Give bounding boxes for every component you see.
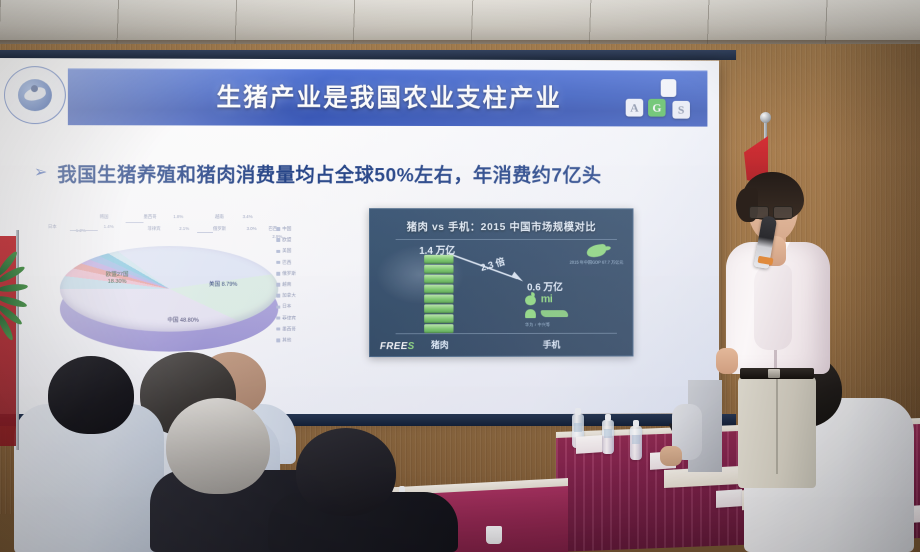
name-card: [576, 435, 602, 454]
cup: [486, 526, 502, 544]
flag-pole-knob-icon: [760, 112, 771, 123]
slide-title-band: 生猪产业是我国农业支柱产业 A G S: [68, 68, 708, 126]
frees-watermark: FREES: [380, 341, 415, 352]
android-logo-icon: [525, 309, 536, 318]
water-bottle: [602, 420, 614, 454]
rooster-icon: [586, 244, 607, 258]
panel-title: 猪肉 vs 手机：2015 中国市场规模对比: [370, 219, 632, 234]
phone-brand-logos: mi 华为 / 中兴等: [525, 292, 586, 328]
institute-emblem-logo: [2, 64, 68, 126]
screenshot-root: 生猪产业是我国农业支柱产业 A G S ➢ 我国生猪养殖和猪肉消费量均占全球50…: [0, 0, 920, 552]
mi-logo-icon: mi: [541, 293, 553, 305]
water-bottle: [630, 426, 642, 460]
money-stack-icon: [424, 255, 453, 334]
presenter-arm: [754, 264, 792, 350]
attendee-head-grey-hair: [166, 398, 270, 494]
pork-vs-phone-comparison-panel: 猪肉 vs 手机：2015 中国市场规模对比 1.4 万亿 2.3 倍 0.6 …: [369, 208, 633, 357]
pie-legend: 中国 欧盟 美国 巴西 俄罗斯 越南 加拿大 日本 菲律宾 墨西哥 其他: [276, 226, 339, 348]
ags-tile-top: [661, 79, 677, 97]
presenter-left-hand: [716, 348, 738, 374]
pie-label-us: 美国 8.79%: [209, 282, 237, 289]
world-pork-share-pie-chart: 日本 1.2% 韩国 1.4% 墨西哥 1.8% 菲律宾 2.1% 越南 3.4…: [20, 210, 347, 375]
attendee-partial-hand: [660, 446, 682, 466]
ags-logo: A G S: [626, 79, 694, 123]
apple-logo-icon: [525, 292, 536, 305]
attendee-head: [296, 428, 396, 516]
gdp-note-block: 2015 年中国GDP 67.7 万亿元: [568, 245, 625, 266]
ags-tile-g: G: [648, 99, 666, 117]
trouser-seam: [776, 378, 778, 474]
bullet-arrow-icon: ➢: [34, 165, 47, 181]
potted-plant-icon: [0, 268, 34, 344]
belt-buckle-icon: [768, 369, 780, 378]
phone-value-label: 0.6 万亿: [527, 279, 563, 294]
pork-axis-label: 猪肉: [417, 338, 462, 351]
slide-bullet-text: 我国生猪养殖和猪肉消费量均占全球50%左右，年消费约7亿头: [57, 158, 601, 188]
gdp-note-text: 2015 年中国GDP 67.7 万亿元: [568, 260, 625, 266]
pie-label-eu: 欧盟27国18.30%: [106, 272, 129, 286]
slide-title: 生猪产业是我国农业支柱产业: [68, 77, 708, 115]
slide-bullet-line: ➢ 我国生猪养殖和猪肉消费量均占全球50%左右，年消费约7亿头: [34, 158, 684, 188]
ags-tile-a: A: [626, 99, 644, 117]
attendee-head: [48, 356, 134, 434]
panel-top-rule: [396, 239, 617, 240]
pie-label-china: 中国 48.80%: [167, 318, 198, 325]
pie-graphic: 欧盟27国18.30% 美国 8.79% 中国 48.80%: [60, 236, 278, 356]
huawei-logo-icon: [541, 310, 568, 317]
name-card: [716, 489, 742, 508]
ags-tile-s: S: [672, 101, 690, 119]
brand-subtext: 华为 / 中兴等: [525, 322, 586, 328]
phone-axis-label: 手机: [529, 338, 574, 351]
